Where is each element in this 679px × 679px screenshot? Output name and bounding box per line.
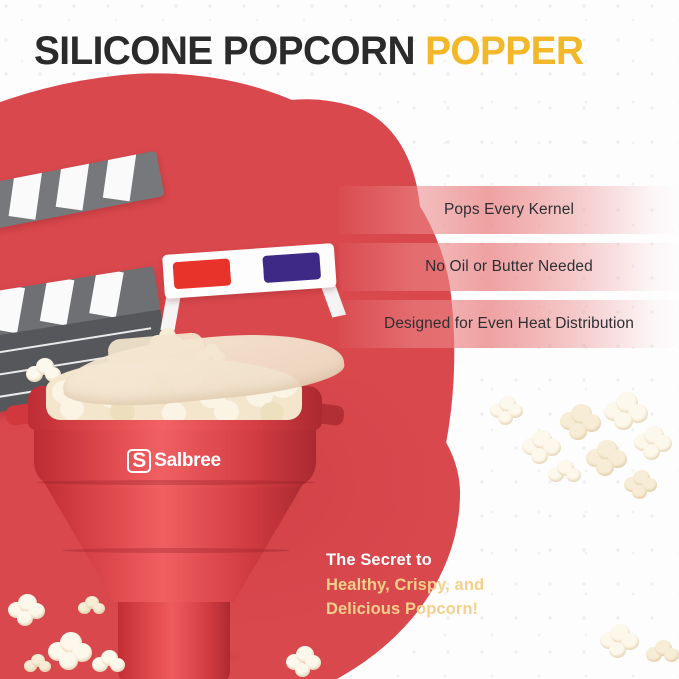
feature-label: Pops Every Kernel (438, 201, 580, 219)
popcorn-piece (24, 654, 52, 679)
popcorn-piece (624, 470, 658, 501)
feature-label: No Oil or Butter Needed (419, 258, 599, 276)
brand-name: Salbree (154, 450, 221, 472)
glasses-lens-blue (262, 252, 321, 283)
feature-list: Pops Every Kernel No Oil or Butter Neede… (339, 186, 679, 357)
popcorn-piece (8, 594, 46, 628)
popcorn-piece (490, 396, 524, 427)
title-accent: POPPER (425, 29, 583, 73)
silicone-popcorn-popper: S Salbree (20, 352, 380, 679)
popcorn-piece (586, 440, 628, 478)
popcorn-piece (600, 624, 640, 660)
brand-s-mark: S (127, 449, 151, 473)
bowl-cone (38, 472, 310, 602)
popcorn-piece (78, 596, 106, 622)
feature-row-2: No Oil or Butter Needed (339, 243, 679, 291)
feature-label: Designed for Even Heat Distribution (378, 315, 640, 333)
popcorn-piece (560, 404, 602, 442)
popcorn-piece (286, 646, 322, 679)
brand-logo: S Salbree (108, 448, 240, 474)
popcorn-piece (48, 632, 92, 672)
popcorn-piece (646, 640, 679, 671)
tagline-line-1: The Secret to (326, 548, 484, 573)
popcorn-piece (92, 650, 126, 679)
3d-glasses (162, 243, 338, 317)
title-main: SILICONE POPCORN (34, 29, 425, 73)
popcorn-piece (548, 460, 582, 491)
feature-row-3: Designed for Even Heat Distribution (339, 300, 679, 348)
product-marketing-poster: SILICONE POPCORN POPPER (0, 0, 679, 679)
tagline-line-3: Delicious Popcorn! (326, 597, 484, 622)
page-title: SILICONE POPCORN POPPER (34, 28, 583, 74)
glasses-lens-red (173, 258, 232, 289)
popcorn-piece (634, 426, 674, 462)
tagline-line-2: Healthy, Crispy, and (326, 573, 484, 598)
feature-row-1: Pops Every Kernel (339, 186, 679, 234)
tagline-block: The Secret to Healthy, Crispy, and Delic… (326, 548, 484, 622)
